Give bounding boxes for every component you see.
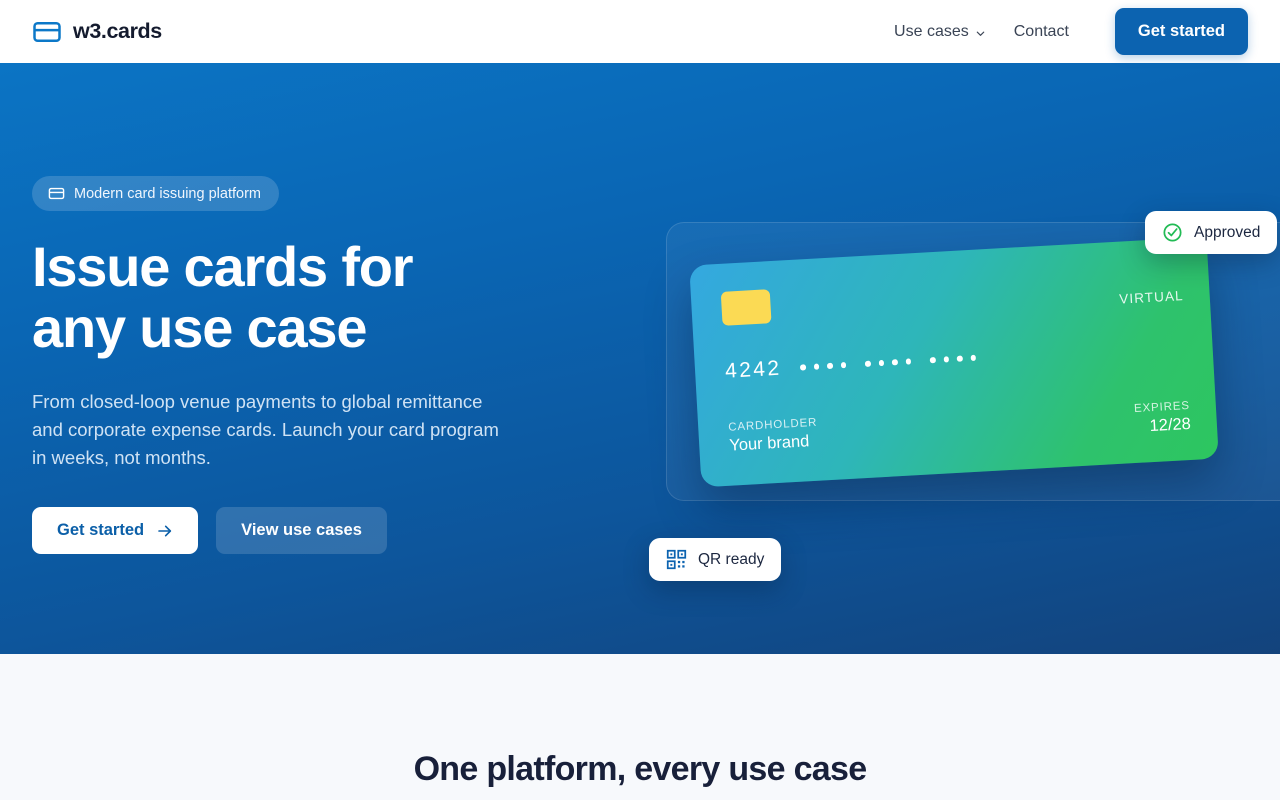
approved-badge: Approved [1145,211,1277,254]
card-chip-icon [721,289,772,326]
main-nav: Use cases Contact Get started [880,8,1248,55]
card-number-masked-group [865,359,911,367]
qr-ready-badge-label: QR ready [698,551,764,569]
hero-subtitle: From closed-loop venue payments to globa… [32,388,617,472]
card-expires-value: 12/28 [1135,415,1192,437]
card-number: 4242 [725,346,977,384]
hero-view-use-cases-button[interactable]: View use cases [216,507,387,554]
chevron-down-icon [975,26,986,37]
nav-item-contact[interactable]: Contact [1000,15,1083,49]
use-cases-heading: One platform, every use case [0,750,1280,789]
credit-card-icon [32,17,62,47]
card-expires: EXPIRES 12/28 [1134,400,1192,437]
card-cardholder-value: Your brand [729,432,819,456]
qr-ready-badge: QR ready [649,538,781,581]
hero-section: Modern card issuing platform Issue cards… [0,63,1280,654]
header-get-started-button[interactable]: Get started [1115,8,1248,55]
card-number-masked-group [930,355,976,363]
card-number-masked-group [800,362,846,370]
nav-item-use-cases-label: Use cases [894,23,969,41]
nav-item-use-cases[interactable]: Use cases [880,15,1000,49]
card-type-label: VIRTUAL [1119,288,1184,307]
hero-title: Issue cards for any use case [32,236,632,358]
arrow-right-icon [157,523,173,539]
card-cardholder: CARDHOLDER Your brand [728,417,819,456]
credit-card-mockup: VIRTUAL 4242 CARDHOLDER Your brand [689,237,1219,488]
credit-card-icon [48,185,65,202]
hero-badge-label: Modern card issuing platform [74,186,261,202]
hero-badge[interactable]: Modern card issuing platform [32,176,279,211]
card-number-prefix: 4242 [725,357,783,384]
hero-get-started-button[interactable]: Get started [32,507,198,554]
card-expires-label: EXPIRES [1134,400,1190,415]
approved-badge-label: Approved [1194,224,1260,242]
site-header: w3.cards Use cases Contact Get started [0,0,1280,63]
check-circle-icon [1162,222,1183,243]
card-preview-stage: VIRTUAL 4242 CARDHOLDER Your brand [666,222,1280,501]
hero-actions: Get started View use cases [32,507,632,554]
card-cardholder-label: CARDHOLDER [728,417,818,434]
hero-get-started-label: Get started [57,521,144,540]
qr-code-icon [666,549,687,570]
brand-name: w3.cards [73,19,162,44]
use-cases-section: One platform, every use case [0,654,1280,800]
hero-copy: Modern card issuing platform Issue cards… [32,176,632,554]
brand-logo[interactable]: w3.cards [32,17,162,47]
